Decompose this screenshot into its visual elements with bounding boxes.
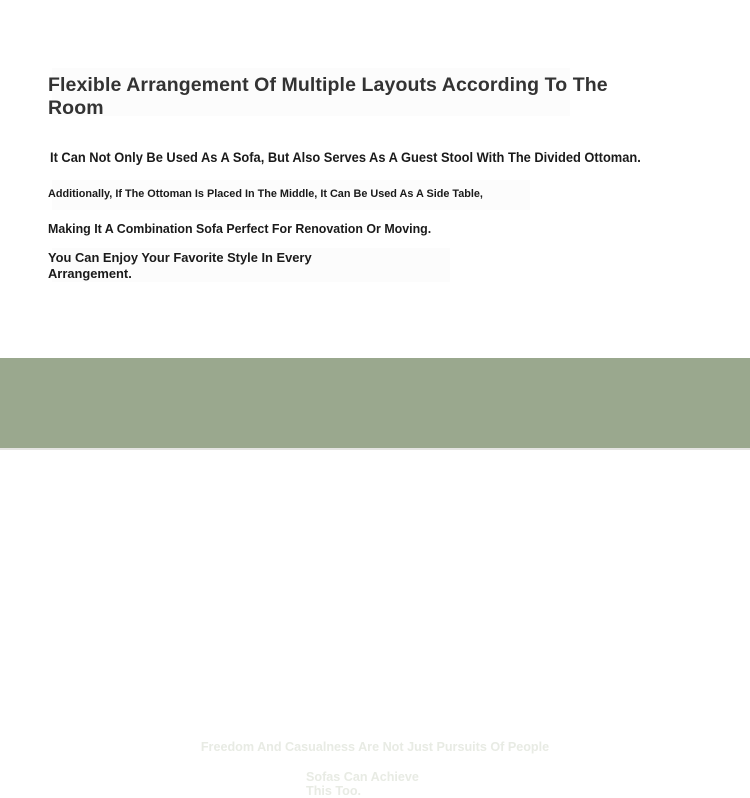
footer-band-underline <box>0 448 750 450</box>
body-line-4: You Can Enjoy Your Favorite Style In Eve… <box>48 250 348 282</box>
body-line-3: Making It A Combination Sofa Perfect For… <box>48 220 552 237</box>
footer-tagline-primary: Freedom And Casualness Are Not Just Purs… <box>0 739 750 755</box>
page-title: Flexible Arrangement Of Multiple Layouts… <box>48 74 608 120</box>
footer-tagline-secondary: Sofas Can Achieve This Too. <box>306 770 646 798</box>
body-line-2: Additionally, If The Ottoman Is Placed I… <box>48 187 572 202</box>
footer-band: Freedom And Casualness Are Not Just Purs… <box>0 358 750 448</box>
body-line-1: It Can Not Only Be Used As A Sofa, But A… <box>50 149 684 167</box>
page-root: Flexible Arrangement Of Multiple Layouts… <box>0 0 750 482</box>
